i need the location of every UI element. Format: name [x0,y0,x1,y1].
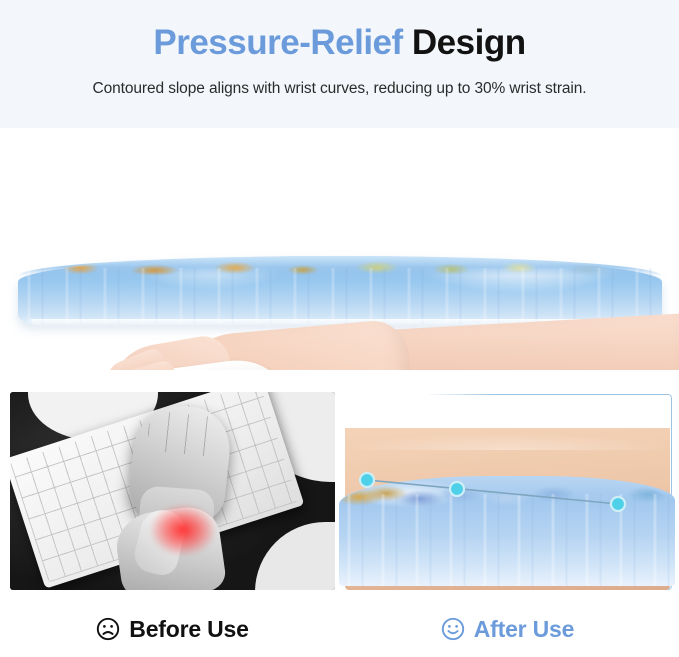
page-title-plain: Design [412,23,526,62]
frowning-face-icon [96,617,120,641]
alignment-dot [611,497,625,511]
header-banner: Pressure-Relief Design Contoured slope a… [0,0,679,128]
before-use-photo [10,392,335,590]
before-use-caption: Before Use [10,613,335,645]
pad-resin-streaks [18,268,662,324]
wrist-rest-pad [18,256,662,324]
page-title-accent: Pressure-Relief [153,23,402,62]
alignment-dot [360,473,374,487]
wrist-alignment-indicator [345,428,670,590]
page-subtitle: Contoured slope aligns with wrist curves… [0,80,679,98]
pain-highlight [150,504,216,556]
alignment-dot [450,482,464,496]
after-use-label: After Use [474,616,574,643]
smiling-face-icon [441,617,465,641]
after-use-caption: After Use [345,613,670,645]
comparison-section: Before Use After Use [0,370,679,657]
hero-product-photo: 10.8° [0,128,679,370]
before-use-label: Before Use [129,616,248,643]
page-title: Pressure-Relief Design [0,22,679,64]
after-use-photo [345,392,670,590]
